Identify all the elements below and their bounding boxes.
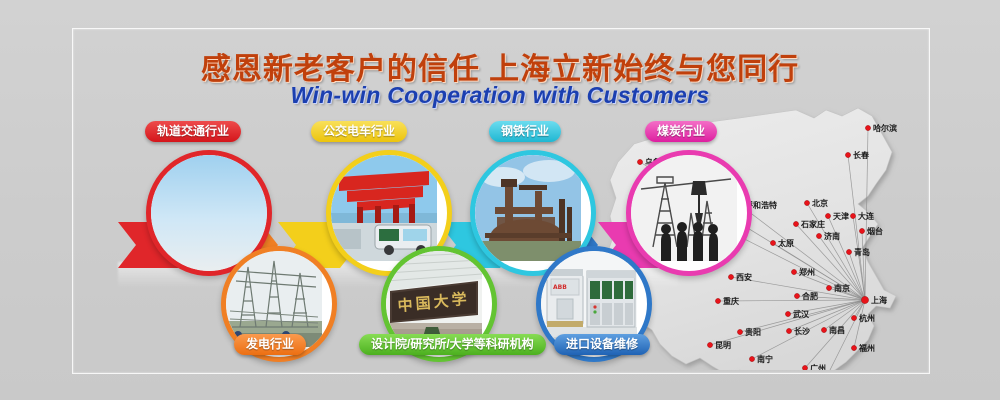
- map-city-dot[interactable]: [865, 125, 870, 130]
- map-city-dot[interactable]: [749, 356, 754, 361]
- map-city-dot[interactable]: [791, 269, 796, 274]
- power-grid-icon: [226, 251, 322, 347]
- map-city-dot[interactable]: [825, 213, 830, 218]
- map-city-label: 福州: [858, 343, 875, 353]
- bus-icon: [331, 155, 437, 261]
- map-city-label: 合肥: [801, 291, 818, 301]
- map-city-dot[interactable]: [821, 327, 826, 332]
- map-city-dot[interactable]: [826, 285, 831, 290]
- svg-text:大: 大: [433, 292, 449, 311]
- map-city-label: 烟台: [867, 226, 883, 236]
- map-city-dot[interactable]: [861, 296, 868, 303]
- industry-label-steel: 钢铁行业: [489, 121, 561, 142]
- map-city-label: 北京: [812, 198, 828, 208]
- map-city-label: 青岛: [854, 247, 870, 257]
- steel-mill-icon: [475, 155, 581, 261]
- map-city-label: 杭州: [859, 313, 875, 323]
- svg-text:学: 学: [451, 290, 467, 309]
- coal-photo: [631, 155, 747, 271]
- industry-circle-coal[interactable]: [626, 150, 752, 276]
- switchgear-icon: ABB: [541, 251, 637, 347]
- map-city-dot[interactable]: [802, 365, 807, 370]
- map-city-dot[interactable]: [794, 293, 799, 298]
- industry-label-research: 设计院/研究所/大学等科研机构: [359, 334, 546, 355]
- map-city-label: 天津: [833, 211, 849, 221]
- map-city-label: 重庆: [723, 296, 739, 306]
- industry-label-equipment: 进口设备维修: [554, 334, 650, 355]
- map-city-dot[interactable]: [851, 345, 856, 350]
- map-city-dot[interactable]: [707, 342, 712, 347]
- map-city-dot[interactable]: [846, 249, 851, 254]
- map-city-label: 南京: [834, 283, 850, 293]
- map-city-label: 石家庄: [800, 219, 825, 229]
- industry-label-coal: 煤炭行业: [645, 121, 717, 142]
- map-city-label: 大连: [858, 211, 875, 221]
- map-city-dot[interactable]: [770, 240, 775, 245]
- map-city-label: 贵阳: [745, 327, 761, 337]
- industry-label-bus: 公交电车行业: [311, 121, 407, 142]
- map-city-dot[interactable]: [786, 328, 791, 333]
- svg-text:国: 国: [415, 294, 431, 313]
- map-city-label: 上海: [871, 295, 887, 305]
- map-city-label: 南昌: [829, 325, 845, 335]
- university-icon: 中 国 大 学: [386, 251, 482, 347]
- map-city-label: 西安: [736, 272, 752, 282]
- map-city-label: 长春: [853, 150, 869, 160]
- map-city-label: 南宁: [757, 354, 773, 364]
- map-city-dot[interactable]: [851, 315, 856, 320]
- map-city-dot[interactable]: [850, 213, 855, 218]
- map-city-dot[interactable]: [845, 152, 850, 157]
- svg-text:ABB: ABB: [553, 284, 567, 291]
- map-city-label: 太原: [777, 238, 794, 248]
- map-city-label: 郑州: [799, 267, 815, 277]
- map-city-dot[interactable]: [793, 221, 798, 226]
- map-city-label: 长沙: [794, 326, 810, 336]
- map-city-dot[interactable]: [859, 228, 864, 233]
- map-city-dot[interactable]: [816, 233, 821, 238]
- svg-text:中: 中: [397, 296, 413, 315]
- map-city-label: 昆明: [715, 340, 731, 350]
- industry-label-power: 发电行业: [234, 334, 306, 355]
- coal-rig-icon: [631, 155, 737, 261]
- map-city-dot[interactable]: [785, 311, 790, 316]
- page-title-english: Win-win Cooperation with Customers: [0, 82, 1000, 109]
- map-city-dot[interactable]: [737, 329, 742, 334]
- map-city-dot[interactable]: [715, 298, 720, 303]
- map-city-label: 武汉: [793, 309, 810, 319]
- map-city-label: 济南: [824, 231, 840, 241]
- map-city-label: 哈尔滨: [873, 123, 897, 133]
- map-city-dot[interactable]: [637, 159, 642, 164]
- industry-label-rail: 轨道交通行业: [145, 121, 241, 142]
- map-city-label: 广州: [810, 363, 826, 370]
- map-city-dot[interactable]: [804, 200, 809, 205]
- map-city-dot[interactable]: [728, 274, 733, 279]
- promo-banner: 哈尔滨长春乌鲁木齐呼和浩特北京天津大连银川石家庄烟台济南太原青岛郑州西安南京合肥…: [0, 0, 1000, 400]
